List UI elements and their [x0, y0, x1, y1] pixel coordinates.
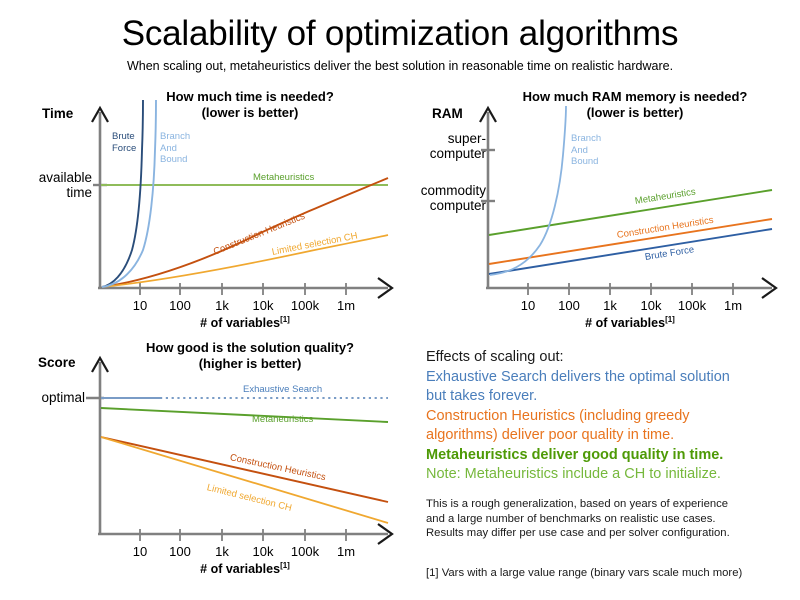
- chart-ram-xtick-5: 1m: [713, 298, 753, 313]
- series-construction-heuristics-line: [489, 219, 772, 264]
- chart-ram-plot: [420, 0, 800, 330]
- chart-ram-x-caption-text: # of variables: [585, 316, 665, 330]
- disclaimer-line-1: This is a rough generalization, based on…: [426, 497, 798, 512]
- chart-time: How much time is needed? (lower is bette…: [0, 0, 420, 330]
- chart-time-xtick-2: 1k: [202, 298, 242, 313]
- chart-time-x-axis-caption: # of variables[1]: [170, 315, 320, 330]
- effects-exhaustive-line-1: Exhaustive Search delivers the optimal s…: [426, 368, 796, 388]
- chart-time-axes: [92, 108, 392, 298]
- chart-quality-xtick-1: 100: [160, 544, 200, 559]
- effects-metaheuristics-note: Note: Metaheuristics include a CH to ini…: [426, 465, 796, 485]
- chart-ram-xtick-4: 100k: [670, 298, 714, 313]
- chart-quality-x-caption-sup: [1]: [280, 561, 290, 570]
- chart-quality-x-axis-caption: # of variables[1]: [170, 561, 320, 576]
- chart-time-xtick-3: 10k: [243, 298, 283, 313]
- effects-construction-line-1: Construction Heuristics (including greed…: [426, 407, 796, 427]
- chart-ram-x-axis-caption: # of variables[1]: [555, 315, 705, 330]
- series-metaheuristics-line: [101, 408, 388, 422]
- chart-quality-label-metaheuristics: Metaheuristics: [252, 414, 313, 425]
- effects-panel: Effects of scaling out: Exhaustive Searc…: [426, 348, 796, 485]
- disclaimer-text: This is a rough generalization, based on…: [426, 497, 798, 541]
- chart-ram: How much RAM memory is needed? (lower is…: [420, 0, 800, 330]
- effects-construction-line-2: algorithms) deliver poor quality in time…: [426, 426, 796, 446]
- disclaimer-line-3: Results may differ per use case and per …: [426, 526, 798, 541]
- chart-quality-xtick-0: 10: [120, 544, 160, 559]
- series-limited-selection-ch-line: [101, 437, 388, 523]
- series-branch-and-bound-line: [490, 106, 566, 275]
- effects-metaheuristics-line: Metaheuristics deliver good quality in t…: [426, 446, 796, 466]
- slide-root: Scalability of optimization algorithms W…: [0, 0, 800, 600]
- chart-time-xtick-4: 100k: [283, 298, 327, 313]
- chart-quality-xtick-3: 10k: [243, 544, 283, 559]
- effects-exhaustive-line-2: but takes forever.: [426, 387, 796, 407]
- effects-heading: Effects of scaling out:: [426, 348, 796, 368]
- chart-time-xtick-0: 10: [120, 298, 160, 313]
- chart-time-x-caption-text: # of variables: [200, 316, 280, 330]
- chart-quality-xtick-2: 1k: [202, 544, 242, 559]
- chart-quality-label-exhaustive-search: Exhaustive Search: [243, 384, 322, 395]
- chart-ram-xtick-2: 1k: [590, 298, 630, 313]
- chart-time-plot: [0, 0, 420, 330]
- series-brute-force-line: [102, 100, 143, 287]
- disclaimer-line-2: and a large number of benchmarks on real…: [426, 512, 798, 527]
- chart-quality-axes: [86, 358, 392, 544]
- chart-time-x-caption-sup: [1]: [280, 315, 290, 324]
- chart-quality-xtick-5: 1m: [326, 544, 366, 559]
- chart-ram-xtick-1: 100: [549, 298, 589, 313]
- chart-time-xtick-1: 100: [160, 298, 200, 313]
- footnote-text: [1] Vars with a large value range (binar…: [426, 566, 798, 580]
- chart-quality: How good is the solution quality? (highe…: [0, 330, 420, 600]
- chart-ram-label-branch-and-bound: BranchAndBound: [571, 133, 601, 168]
- chart-time-label-brute-force: BruteForce: [112, 131, 136, 154]
- chart-ram-axes: [480, 108, 776, 298]
- chart-ram-xtick-0: 10: [508, 298, 548, 313]
- chart-quality-plot: [0, 330, 420, 600]
- chart-quality-x-caption-text: # of variables: [200, 562, 280, 576]
- chart-ram-xtick-3: 10k: [631, 298, 671, 313]
- chart-time-label-branch-and-bound: BranchAndBound: [160, 131, 190, 166]
- chart-ram-x-caption-sup: [1]: [665, 315, 675, 324]
- chart-time-xtick-5: 1m: [326, 298, 366, 313]
- chart-time-label-metaheuristics: Metaheuristics: [253, 172, 314, 183]
- chart-quality-xtick-4: 100k: [283, 544, 327, 559]
